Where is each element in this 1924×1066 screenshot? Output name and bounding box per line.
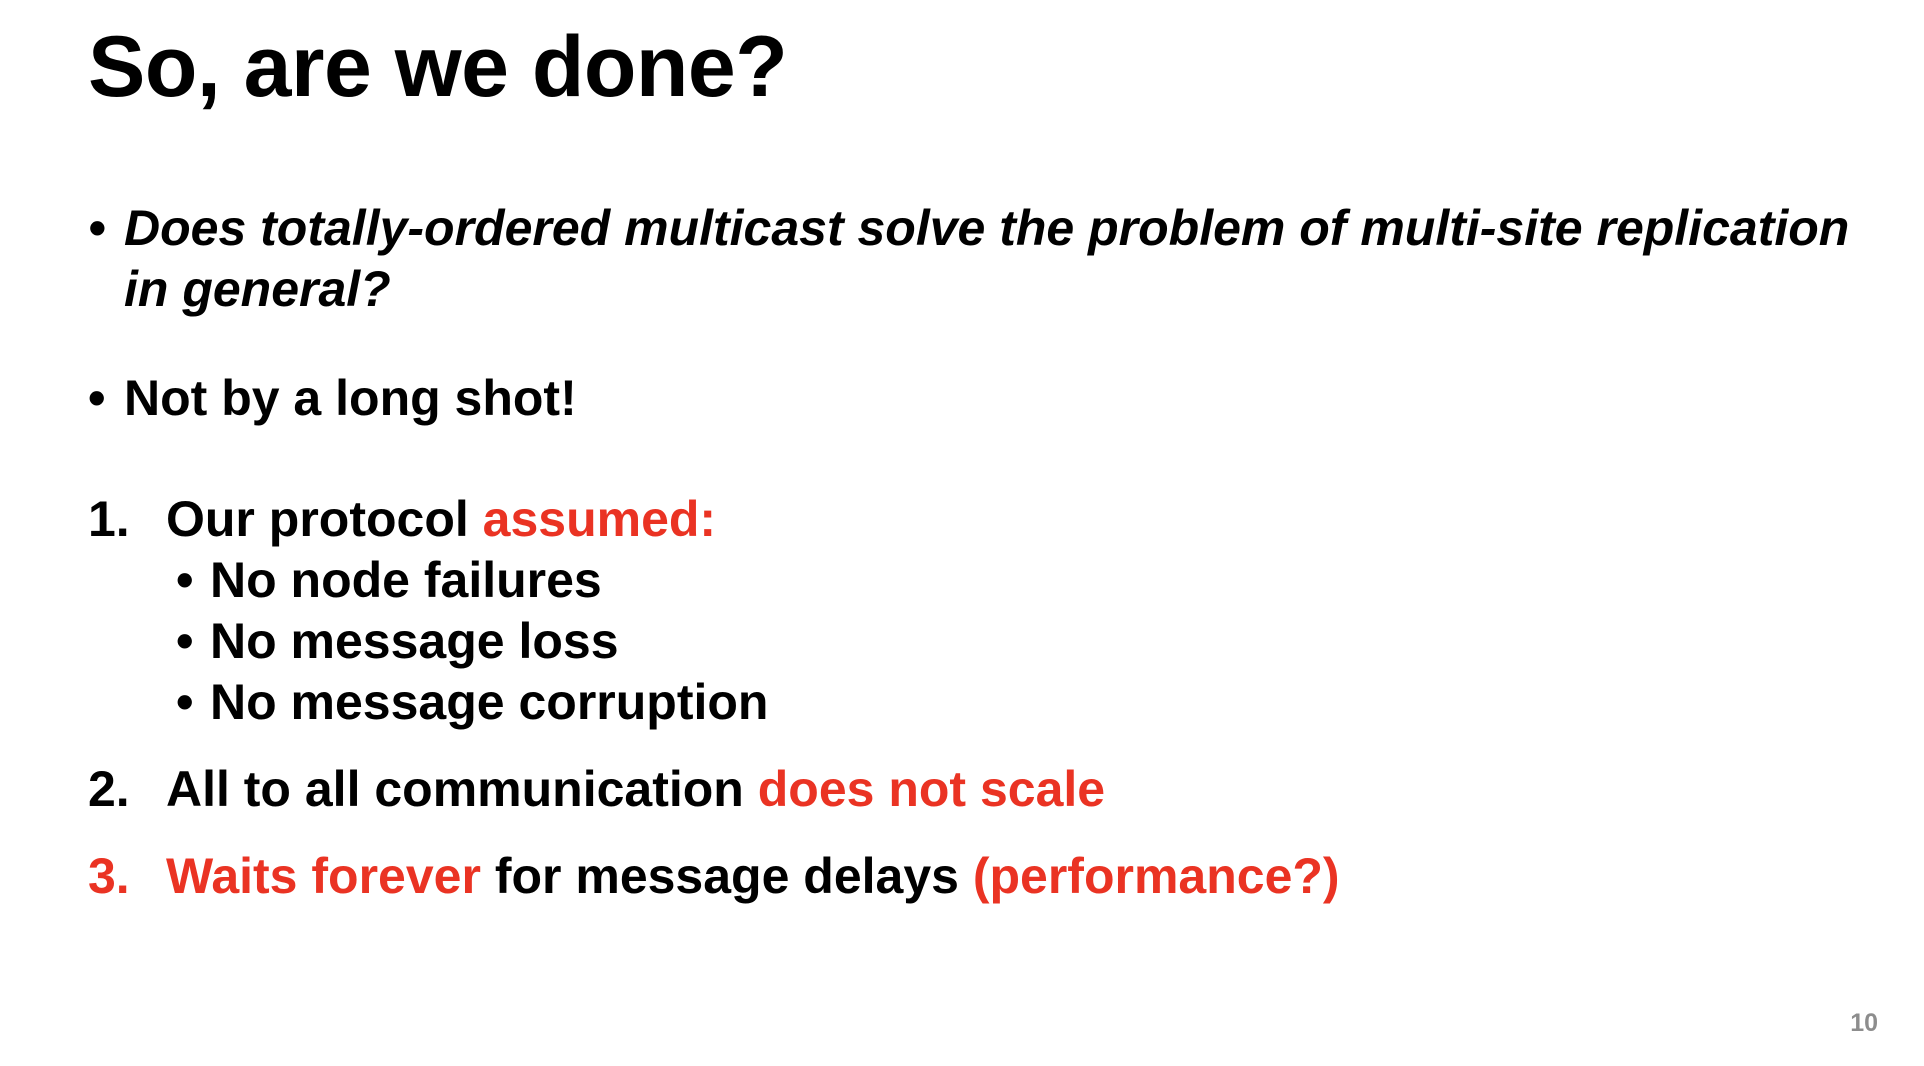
numbered-item-2-part-1: does not scale <box>758 761 1105 817</box>
bullet-dot-icon: • <box>176 550 210 611</box>
spacer <box>88 733 1868 759</box>
numbered-item-1-part-1: assumed: <box>483 491 716 547</box>
sub-bullet-label-no-message-loss: No message loss <box>210 611 1868 672</box>
bullet-dot-icon: • <box>88 198 124 259</box>
bullet-dot-icon: • <box>88 368 124 429</box>
bullet-dot-icon: • <box>176 672 210 733</box>
spacer <box>88 820 1868 846</box>
numbered-item-1: 1. Our protocol assumed: <box>88 489 1868 550</box>
spacer <box>88 320 1868 368</box>
sub-bullet-label-no-node-failures: No node failures <box>210 550 1868 611</box>
numbered-item-3-part-0: Waits forever <box>166 848 481 904</box>
page-number: 10 <box>1850 1011 1878 1036</box>
numbered-item-3-label: Waits forever for message delays (perfor… <box>166 846 1868 907</box>
numbered-item-3: 3. Waits forever for message delays (per… <box>88 846 1868 907</box>
bullet-label-question: Does totally-ordered multicast solve the… <box>124 198 1868 320</box>
bullet-dot-icon: • <box>176 611 210 672</box>
bullet-item-question: • Does totally-ordered multicast solve t… <box>88 198 1868 320</box>
numbered-item-3-part-2: (performance?) <box>973 848 1340 904</box>
numbered-item-3-number: 3. <box>88 846 166 907</box>
page-title: So, are we done? <box>88 22 787 112</box>
numbered-item-1-part-0: Our protocol <box>166 491 483 547</box>
numbered-item-2-number: 2. <box>88 759 166 820</box>
spacer <box>88 429 1868 489</box>
bullet-label-answer: Not by a long shot! <box>124 368 1868 429</box>
slide-body: • Does totally-ordered multicast solve t… <box>88 198 1868 907</box>
sub-bullet-no-node-failures: • No node failures <box>176 550 1868 611</box>
numbered-item-2-label: All to all communication does not scale <box>166 759 1868 820</box>
sub-bullet-label-no-message-corruption: No message corruption <box>210 672 1868 733</box>
numbered-item-1-number: 1. <box>88 489 166 550</box>
numbered-item-2: 2. All to all communication does not sca… <box>88 759 1868 820</box>
numbered-item-3-part-1: for message delays <box>481 848 973 904</box>
sub-bullet-no-message-loss: • No message loss <box>176 611 1868 672</box>
numbered-item-2-part-0: All to all communication <box>166 761 758 817</box>
sub-bullet-no-message-corruption: • No message corruption <box>176 672 1868 733</box>
slide-canvas: So, are we done? • Does totally-ordered … <box>0 0 1924 1066</box>
bullet-item-answer: • Not by a long shot! <box>88 368 1868 429</box>
numbered-item-1-label: Our protocol assumed: <box>166 489 1868 550</box>
